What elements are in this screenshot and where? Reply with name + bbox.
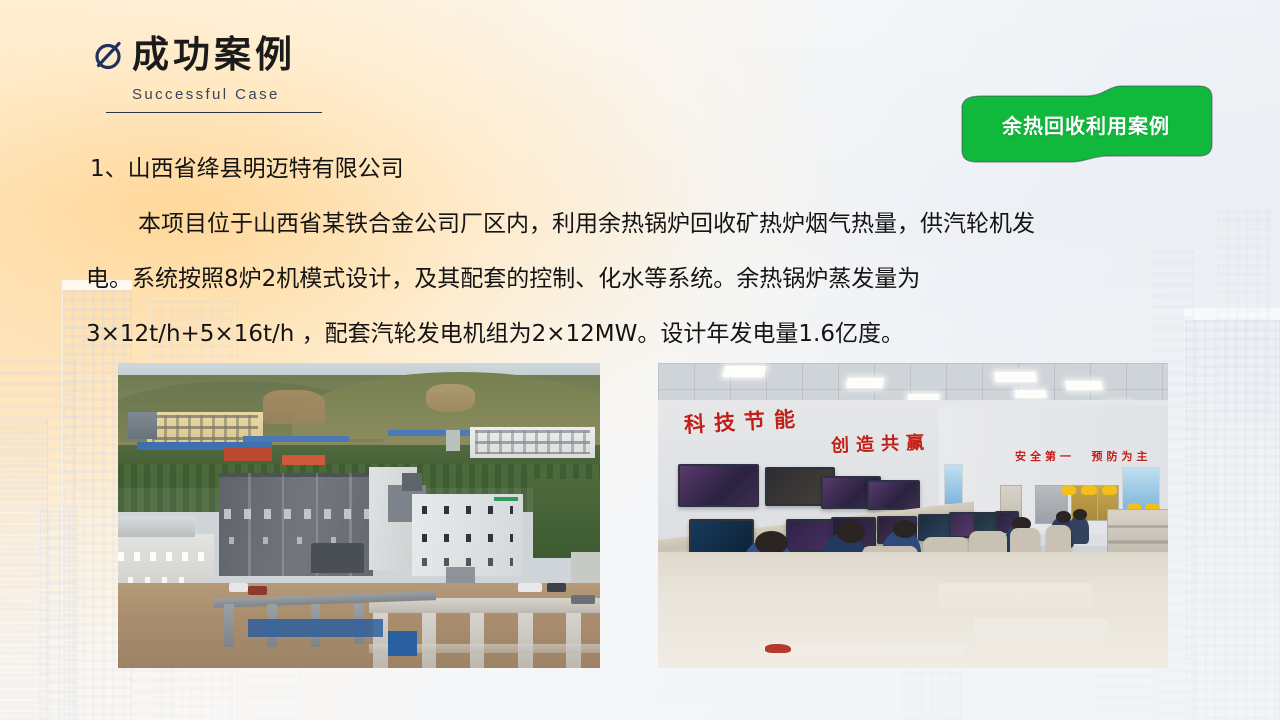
- body-copy: 1、山西省绛县明迈特有限公司 本项目位于山西省某铁合金公司厂区内，利用余热锅炉回…: [86, 142, 1206, 362]
- wall-slogan-4: 预防为主: [1092, 448, 1152, 464]
- case-paragraph-line-3: 3×12t/h+5×16t/h ，配套汽轮发电机组为2×12MW。设计年发电量1…: [86, 307, 1206, 362]
- control-room-photo: 科技节能 创造共赢 安全第一 预防为主: [658, 363, 1168, 668]
- wall-slogan-3: 安全第一: [1015, 448, 1075, 464]
- case-paragraph-line-1: 本项目位于山西省某铁合金公司厂区内，利用余热锅炉回收矿热炉烟气热量，供汽轮机发: [86, 197, 1206, 252]
- slide-canvas: 成功案例 Successful Case 余热回收利用案例 1、山西省绛县明迈特…: [0, 0, 1280, 720]
- case-paragraph-line-2: 电。系统按照8炉2机模式设计，及其配套的控制、化水等系统。余热锅炉蒸发量为: [86, 252, 1206, 307]
- case-heading: 1、山西省绛县明迈特有限公司: [90, 142, 1206, 197]
- slashed-circle-icon: [92, 38, 126, 72]
- page-subtitle: Successful Case: [132, 86, 322, 103]
- plant-aerial-photo: [118, 363, 600, 668]
- page-title: 成功案例: [132, 36, 296, 73]
- header-divider: [106, 112, 322, 113]
- wall-slogan-2: 创造共赢: [831, 428, 932, 457]
- wall-slogan-1: 科技节能: [683, 403, 804, 439]
- slide-header: 成功案例 Successful Case: [92, 36, 322, 113]
